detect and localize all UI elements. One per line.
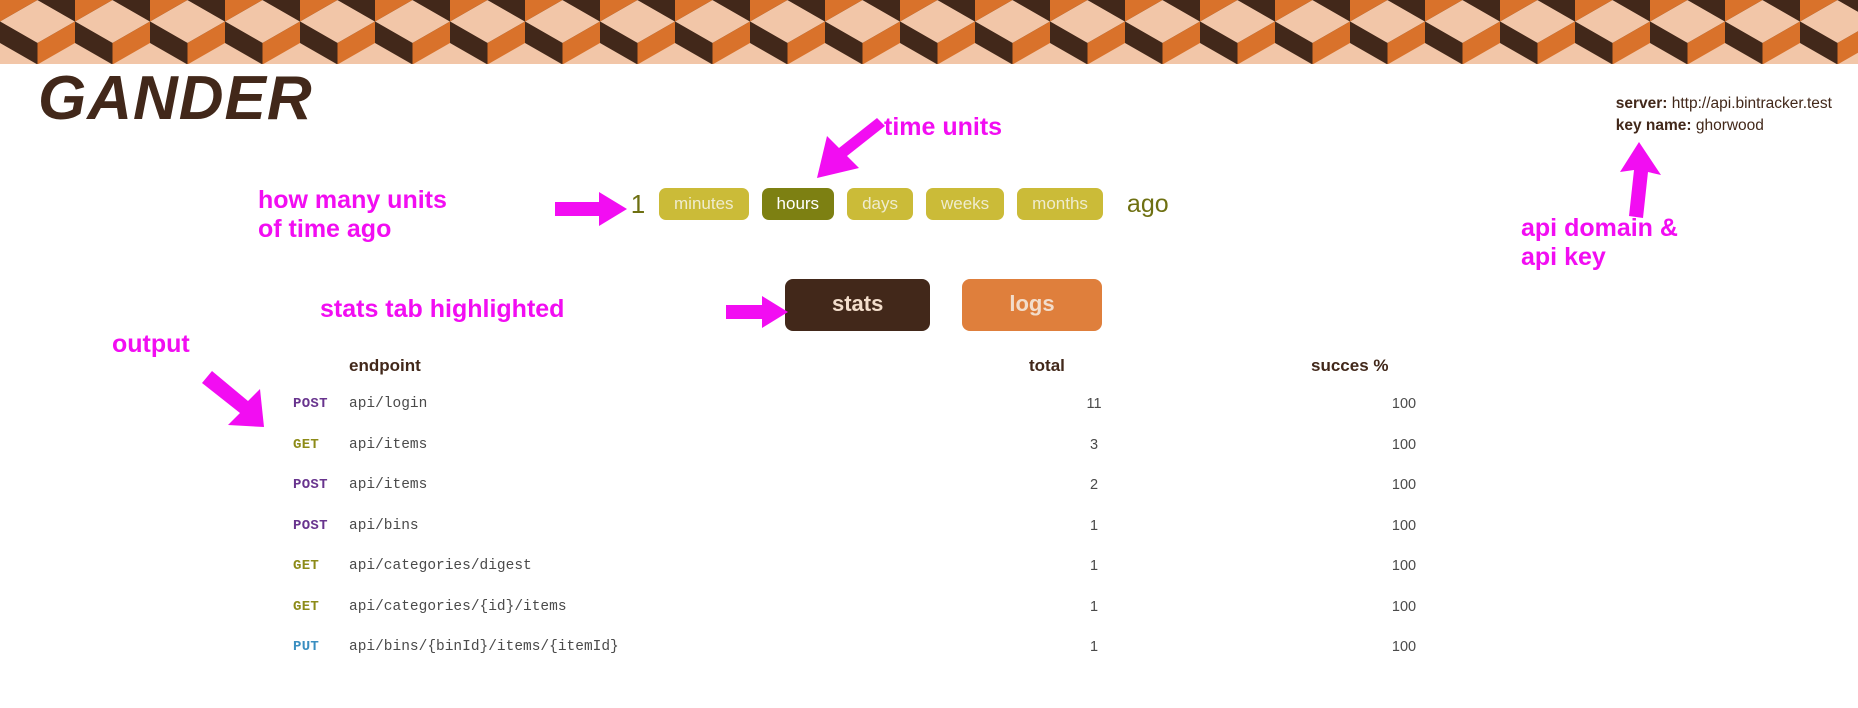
row-endpoint: api/items: [349, 477, 949, 493]
annotation-arrow-api-domain: [1617, 142, 1661, 218]
row-success: 100: [1239, 477, 1569, 493]
unit-button-minutes[interactable]: minutes: [659, 188, 749, 220]
annotation-stats-tab: stats tab highlighted: [320, 295, 564, 324]
row-success: 100: [1239, 518, 1569, 534]
row-endpoint: api/login: [349, 396, 949, 412]
row-method: POST: [293, 477, 349, 493]
table-row: POSTapi/items2100: [293, 465, 1583, 506]
annotation-arrow-how-many: [555, 192, 627, 226]
unit-button-hours[interactable]: hours: [762, 188, 835, 220]
table-header: endpoint total succes %: [293, 348, 1583, 384]
annotation-how-many-units: how many units of time ago: [258, 186, 447, 244]
row-method: GET: [293, 437, 349, 453]
row-total: 1: [949, 518, 1239, 534]
row-total: 11: [949, 396, 1239, 412]
annotation-arrow-output: [202, 369, 268, 431]
row-method: POST: [293, 518, 349, 534]
table-row: GETapi/items3100: [293, 425, 1583, 466]
table-row: POSTapi/login11100: [293, 384, 1583, 425]
row-endpoint: api/categories/{id}/items: [349, 599, 949, 615]
row-success: 100: [1239, 396, 1569, 412]
row-method: PUT: [293, 639, 349, 655]
table-row: PUTapi/bins/{binId}/items/{itemId}1100: [293, 627, 1583, 668]
row-endpoint: api/bins: [349, 518, 949, 534]
table-row: POSTapi/bins1100: [293, 506, 1583, 547]
annotation-api-domain-key: api domain & api key: [1521, 214, 1678, 272]
app-root: GANDER server: http://api.bintracker.tes…: [0, 0, 1858, 708]
row-endpoint: api/items: [349, 437, 949, 453]
annotation-output: output: [112, 330, 190, 359]
unit-button-days[interactable]: days: [847, 188, 913, 220]
row-method: POST: [293, 396, 349, 412]
view-tabs: stats logs: [785, 279, 1102, 331]
row-method: GET: [293, 558, 349, 574]
row-method: GET: [293, 599, 349, 615]
annotation-time-units: time units: [884, 113, 1002, 142]
server-label: server:: [1616, 95, 1668, 112]
header-endpoint: endpoint: [349, 356, 949, 376]
row-total: 1: [949, 558, 1239, 574]
header-banner: [0, 0, 1858, 64]
server-info: server: http://api.bintracker.test key n…: [1616, 93, 1832, 137]
annotation-arrow-stats-tab: [726, 296, 788, 328]
tab-logs[interactable]: logs: [962, 279, 1101, 331]
header-success: succes %: [1239, 356, 1569, 376]
quantity-input[interactable]: 1: [630, 189, 646, 220]
tab-stats[interactable]: stats: [785, 279, 930, 331]
row-endpoint: api/categories/digest: [349, 558, 949, 574]
row-success: 100: [1239, 639, 1569, 655]
row-success: 100: [1239, 599, 1569, 615]
table-body: POSTapi/login11100GETapi/items3100POSTap…: [293, 384, 1583, 668]
unit-button-months[interactable]: months: [1017, 188, 1103, 220]
key-name-label: key name:: [1616, 117, 1692, 134]
key-name-line: key name: ghorwood: [1616, 115, 1832, 137]
server-value: http://api.bintracker.test: [1672, 95, 1832, 112]
row-success: 100: [1239, 437, 1569, 453]
table-row: GETapi/categories/digest1100: [293, 546, 1583, 587]
unit-button-weeks[interactable]: weeks: [926, 188, 1004, 220]
stats-table: endpoint total succes % POSTapi/login111…: [293, 348, 1583, 668]
row-total: 1: [949, 599, 1239, 615]
row-success: 100: [1239, 558, 1569, 574]
header-total: total: [949, 356, 1239, 376]
ago-label: ago: [1127, 190, 1169, 219]
table-row: GETapi/categories/{id}/items1100: [293, 587, 1583, 628]
row-endpoint: api/bins/{binId}/items/{itemId}: [349, 639, 949, 655]
server-line: server: http://api.bintracker.test: [1616, 93, 1832, 115]
time-range-selector: 1 minutes hours days weeks months ago: [630, 186, 1169, 222]
annotation-arrow-time-units: [813, 120, 885, 182]
key-name-value: ghorwood: [1696, 117, 1764, 134]
row-total: 2: [949, 477, 1239, 493]
page-title: GANDER: [38, 66, 313, 131]
row-total: 1: [949, 639, 1239, 655]
row-total: 3: [949, 437, 1239, 453]
